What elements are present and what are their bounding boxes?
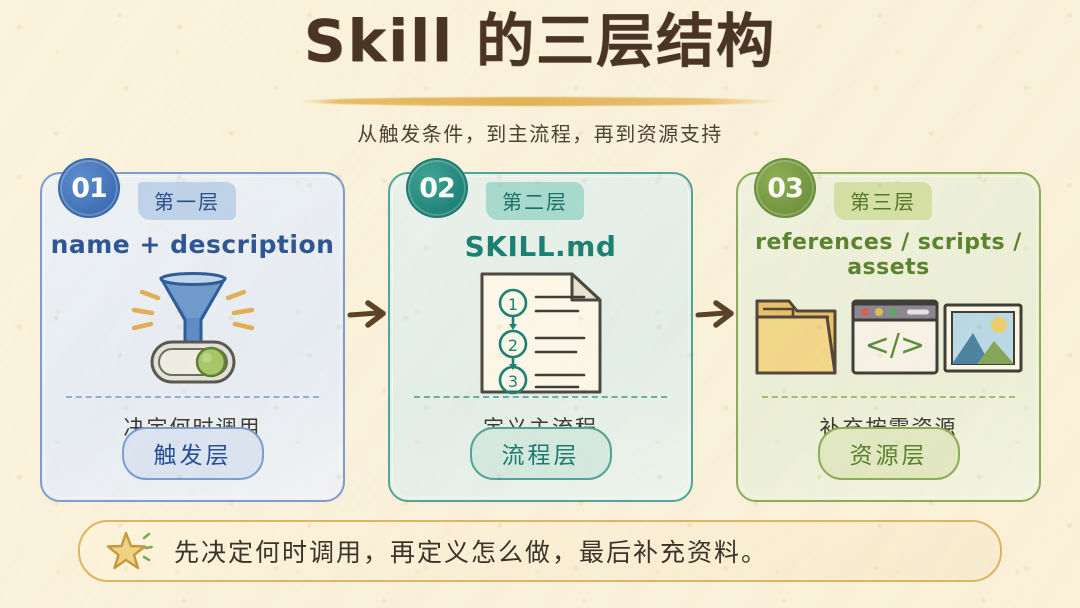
card-badge-01: 01 xyxy=(58,158,120,218)
svg-text:2: 2 xyxy=(507,336,517,355)
title-underline-swash xyxy=(300,97,780,106)
layer-card-trigger[interactable]: 01 第一层 name + description xyxy=(40,172,345,502)
infographic-canvas: Skill 的三层结构 从触发条件，到主流程，再到资源支持 01 第一层 nam… xyxy=(0,0,1080,608)
card-tag-layer3: 第三层 xyxy=(834,182,932,220)
folder-code-image-icon: </> xyxy=(749,281,1029,385)
footer-banner: 先决定何时调用，再定义怎么做，最后补充资料。 xyxy=(78,520,1002,582)
funnel-shape xyxy=(161,273,225,342)
card-pill-resource-layer[interactable]: 资源层 xyxy=(818,427,960,480)
svg-text:1: 1 xyxy=(507,295,517,314)
card-tag-layer2: 第二层 xyxy=(486,182,584,220)
code-glyph: </> xyxy=(864,328,924,363)
document-steps-icon: 1 2 3 xyxy=(466,270,616,396)
card-pill-trigger-layer[interactable]: 触发层 xyxy=(122,427,264,480)
svg-text:3: 3 xyxy=(507,372,517,391)
code-window-icon: </> xyxy=(853,301,937,373)
star-icon xyxy=(106,529,152,573)
page-subtitle: 从触发条件，到主流程，再到资源支持 xyxy=(0,118,1080,147)
toggle-switch-icon xyxy=(152,342,234,382)
card-badge-02: 02 xyxy=(406,158,468,218)
card-divider xyxy=(66,396,319,398)
card-divider xyxy=(414,396,667,398)
page-title: Skill 的三层结构 xyxy=(304,8,776,75)
arrow-card1-to-card2 xyxy=(348,300,390,328)
resources-illustration: </> xyxy=(738,270,1039,395)
card-title-skill-md: SKILL.md xyxy=(390,230,691,263)
funnel-toggle-icon xyxy=(98,272,288,394)
arrow-card2-to-card3 xyxy=(696,300,738,328)
document-steps-illustration: 1 2 3 xyxy=(390,270,691,395)
card-badge-03: 03 xyxy=(754,158,816,218)
folder-icon xyxy=(757,301,835,373)
image-frame-icon xyxy=(945,305,1021,371)
card-title-name-description: name + description xyxy=(42,230,343,259)
layer-card-resources[interactable]: 03 第三层 references / scripts / assets xyxy=(736,172,1041,502)
layer-card-workflow[interactable]: 02 第二层 SKILL.md 1 2 3 xyxy=(388,172,693,502)
card-pill-workflow-layer[interactable]: 流程层 xyxy=(470,427,612,480)
header: Skill 的三层结构 xyxy=(0,8,1080,75)
card-tag-layer1: 第一层 xyxy=(138,182,236,220)
footer-text: 先决定何时调用，再定义怎么做，最后补充资料。 xyxy=(174,533,768,569)
funnel-toggle-illustration xyxy=(42,270,343,395)
card-divider xyxy=(762,396,1015,398)
